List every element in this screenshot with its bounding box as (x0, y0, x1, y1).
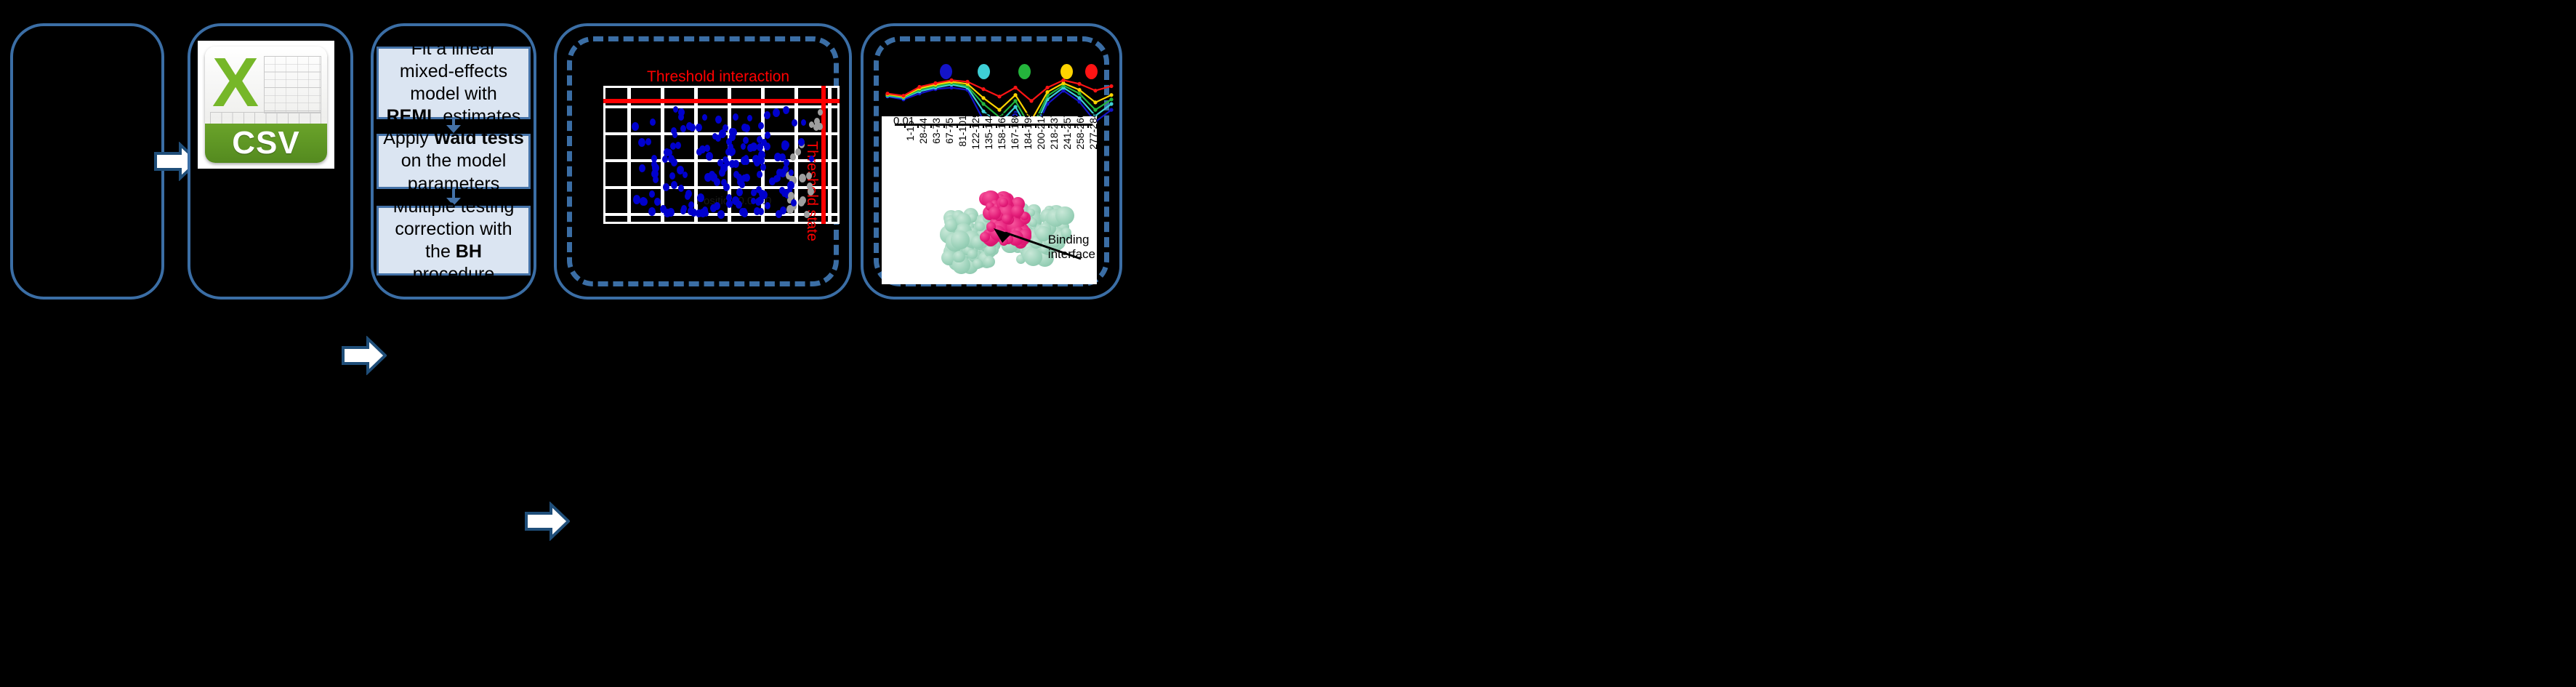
line-marker (885, 92, 889, 95)
scatter-point-significant (633, 195, 640, 204)
scatter-point-significant (754, 158, 760, 166)
threshold-state-line (821, 86, 826, 224)
scatter-point-significant (663, 183, 669, 191)
scatter-point-significant (638, 138, 645, 147)
line-marker (901, 94, 905, 97)
ligand-surface-patch (989, 206, 1001, 219)
step-wald-tests: Apply Wald tests on the model parameters (377, 134, 531, 189)
line-marker (1013, 86, 1017, 89)
scatter-point-significant (710, 173, 717, 182)
scatter-point-other (814, 118, 820, 125)
scatter-point-significant (704, 145, 710, 152)
scatter-point-significant (673, 106, 678, 113)
protein-surface-patch (967, 249, 977, 259)
scatter-point-significant (741, 209, 748, 217)
scatter-point-significant (715, 116, 722, 124)
scatter-point-significant (733, 113, 738, 121)
line-marker (1045, 86, 1049, 89)
scatter-point-significant (672, 132, 677, 138)
protein-surface-patch (975, 222, 985, 231)
scatter-point-significant (741, 143, 746, 150)
line-marker (1029, 99, 1033, 103)
scatter-point-significant (783, 141, 789, 149)
scatter-point-significant (779, 187, 785, 194)
step-bh-correction: Multiple testing correction with the BH … (377, 206, 531, 276)
scatter-point-significant (792, 119, 797, 126)
line-marker (1013, 93, 1017, 97)
scatter-point-significant (733, 171, 739, 178)
scatter-point-significant (696, 124, 702, 132)
csv-file-icon: X CSV (205, 47, 327, 163)
line-marker (1093, 100, 1097, 104)
scatter-point-other (809, 121, 814, 128)
scatter-point-significant (669, 172, 675, 180)
scatter-point-significant (783, 165, 789, 172)
scatter-point-significant (719, 169, 725, 177)
line-marker (1109, 102, 1113, 105)
scatter-point-significant (758, 208, 764, 215)
scatter-point-significant (649, 190, 655, 198)
scatter-point-significant (760, 164, 766, 171)
ligand-surface-patch (980, 232, 990, 242)
scatter-point-significant (671, 158, 677, 166)
line-marker (1109, 84, 1113, 88)
protein-structure-image: Binding interface (882, 179, 1097, 284)
line-marker (1077, 96, 1081, 100)
scatter-point-significant (641, 198, 648, 206)
scatter-point-significant (747, 144, 754, 152)
scatter-point-other (804, 211, 810, 218)
scatter-point-significant (798, 138, 805, 146)
scatter-point-significant (697, 193, 704, 202)
line-marker (1093, 108, 1097, 112)
scatter-point-significant (744, 155, 749, 161)
scatter-point-significant (769, 177, 776, 185)
scatter-point-significant (801, 119, 806, 126)
scatter-point-significant (729, 150, 734, 156)
line-marker (1077, 92, 1081, 95)
scatter-point-other (799, 174, 806, 182)
scatter-point-significant (671, 181, 677, 189)
scatter-point-significant (729, 128, 735, 135)
line-marker (1093, 89, 1097, 92)
scatter-point-significant (717, 210, 725, 219)
step-wald-tests-text: Apply Wald tests on the model parameters (383, 127, 524, 196)
scatter-point-significant (696, 209, 702, 217)
scatter-plot: Threshold interaction Threshold state Po… (603, 86, 840, 224)
scatter-point-significant (678, 185, 684, 192)
binding-interface-line1: Binding (1048, 233, 1095, 247)
line-marker (1109, 108, 1113, 112)
protein-surface-patch (945, 219, 958, 232)
scatter-point-other (818, 109, 823, 116)
arrow-csv-to-model (342, 336, 387, 375)
threshold-interaction-line (603, 99, 840, 103)
scatter-point-significant (664, 148, 670, 156)
scatter-point-significant (650, 118, 656, 126)
csv-file-card: X CSV (198, 41, 334, 169)
scatter-point-significant (774, 153, 781, 161)
scatter-point-significant (675, 142, 681, 149)
line-marker (981, 102, 985, 105)
scatter-point-significant (651, 155, 657, 162)
step-fit-model: Fit a linear mixed-effects model with RE… (377, 47, 531, 119)
scatter-point-significant (773, 108, 780, 117)
scatter-point-significant (765, 202, 770, 209)
line-marker (1077, 88, 1081, 92)
scatter-point-other (798, 198, 805, 206)
line-marker (1045, 90, 1049, 94)
line-marker (917, 85, 921, 89)
scatter-point-significant (653, 176, 659, 183)
scatter-point-significant (680, 125, 686, 132)
scatter-point-other (790, 153, 796, 161)
scatter-point-significant (667, 208, 675, 217)
scatter-point-significant (733, 160, 739, 168)
protein-surface-patch (951, 230, 970, 249)
step-fit-model-text: Fit a linear mixed-effects model with RE… (383, 38, 524, 129)
binding-interface-label: Binding interface (1048, 233, 1095, 261)
scatter-point-significant (702, 206, 708, 214)
scatter-point-significant (765, 132, 770, 139)
scatter-point-significant (761, 139, 767, 146)
scatter-point-significant (736, 188, 743, 196)
scatter-point-significant (789, 169, 794, 176)
scatter-point-significant (791, 199, 797, 206)
scatter-point-significant (747, 115, 752, 121)
ligand-surface-patch (999, 198, 1008, 207)
scatter-point-other (806, 172, 812, 180)
scatter-point-significant (712, 133, 717, 140)
line-marker (1109, 93, 1113, 97)
scatter-point-significant (737, 178, 744, 186)
line-marker (933, 81, 937, 85)
scatter-point-significant (685, 190, 692, 198)
line-marker (1013, 105, 1017, 108)
threshold-interaction-label: Threshold interaction (647, 68, 789, 86)
line-marker (997, 95, 1001, 98)
scatter-point-significant (677, 166, 684, 174)
scatter-point-significant (648, 207, 656, 216)
scatter-point-significant (688, 207, 694, 215)
scatter-point-significant (678, 108, 685, 116)
scatter-point-significant (645, 138, 651, 145)
scatter-point-significant (780, 206, 786, 214)
arrow-model-to-results (525, 502, 570, 541)
scatter-point-significant (760, 190, 768, 199)
scatter-point-significant (680, 207, 686, 214)
scatter-point-significant (757, 171, 762, 178)
scatter-point-significant (686, 122, 693, 130)
scatter-point-significant (744, 124, 750, 132)
line-marker (981, 96, 985, 100)
line-marker (965, 80, 969, 84)
scatter-point-significant (702, 114, 707, 121)
scatter-point-significant (787, 181, 794, 190)
line-marker (997, 108, 1001, 112)
step-bh-correction-text: Multiple testing correction with the BH … (383, 196, 524, 286)
scatter-point-significant (744, 174, 750, 182)
scatter-point-significant (764, 111, 770, 119)
scatter-point-significant (725, 160, 730, 166)
binding-interface-line2: interface (1048, 247, 1095, 262)
line-marker (1013, 99, 1017, 103)
scatter-point-significant (710, 204, 717, 212)
scatter-point-other (795, 148, 801, 156)
scatter-point-significant (696, 148, 702, 156)
scatter-point-significant (660, 205, 667, 213)
peptide-tick-label: 277-284 (1087, 112, 1099, 149)
csv-grid-upper (264, 56, 321, 113)
scatter-point-significant (726, 200, 733, 208)
scatter-point-significant (783, 106, 789, 114)
csv-band: CSV (205, 124, 327, 163)
figure-canvas: X CSV Fit a linear mixed-effects model w… (0, 0, 2576, 687)
csv-band-label: CSV (232, 125, 299, 161)
protein-surface-patch (973, 259, 983, 269)
scatter-point-significant (809, 156, 814, 162)
scatter-point-significant (706, 152, 713, 161)
scatter-point-significant (758, 122, 764, 129)
scatter-point-significant (632, 122, 639, 131)
input-panel (10, 23, 164, 300)
line-marker (1061, 79, 1065, 82)
scatter-point-significant (662, 156, 668, 163)
scatter-point-significant (654, 198, 661, 206)
line-marker (949, 79, 953, 82)
line-marker (1077, 82, 1081, 86)
line-marker (981, 87, 985, 91)
line-marker (1109, 97, 1113, 101)
scatter-point-significant (723, 124, 728, 132)
scatter-point-significant (639, 164, 645, 172)
scatter-point-other (808, 188, 814, 196)
protein-surface-patch (1055, 206, 1074, 225)
scatter-point-significant (652, 164, 659, 172)
scatter-point-significant (721, 179, 727, 186)
excel-x-glyph: X (211, 51, 259, 116)
